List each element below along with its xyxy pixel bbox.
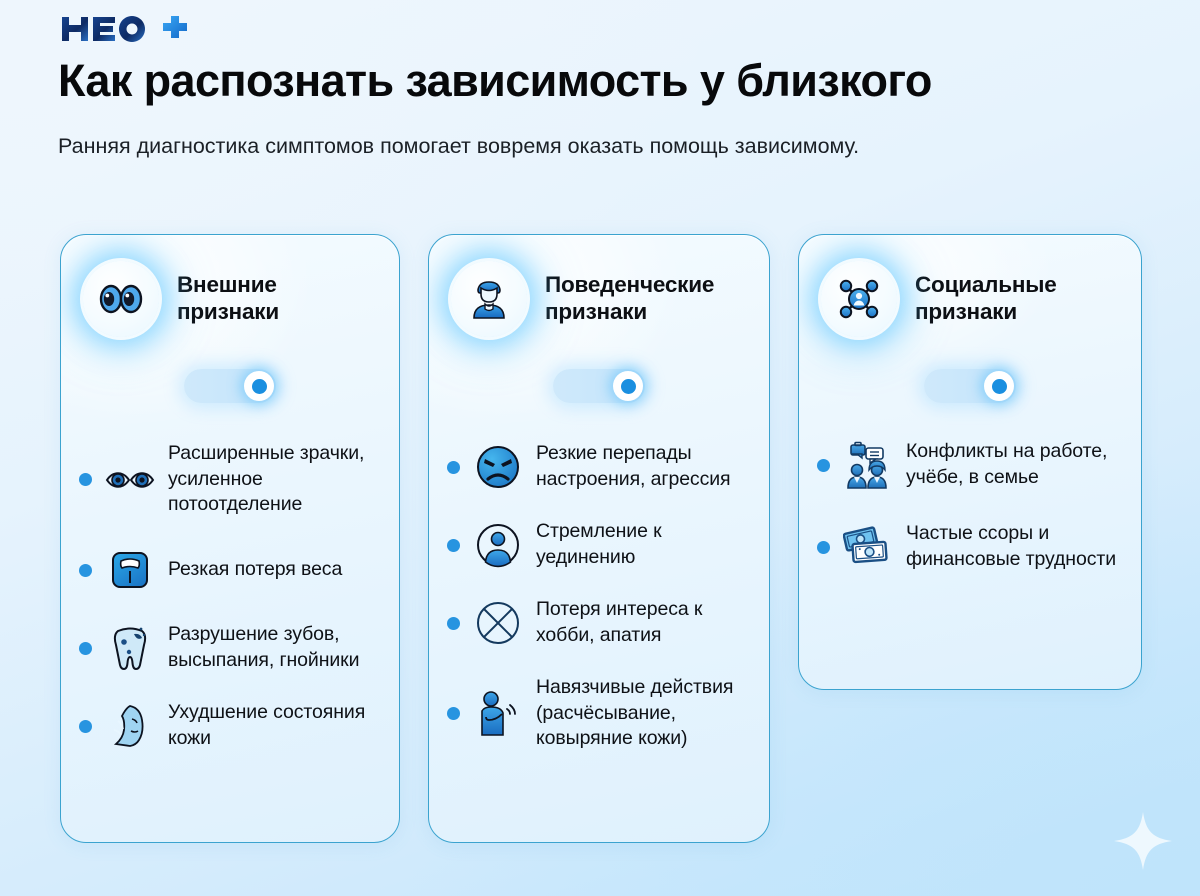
four-point-sparkle-icon	[1114, 812, 1172, 870]
neo-plus-logo-icon	[60, 13, 210, 45]
bullet-dot	[447, 539, 460, 552]
list-item-text: Стремление к уединению	[536, 519, 751, 570]
bullet-dot	[79, 473, 92, 486]
toggle-behavioral[interactable]	[553, 369, 645, 403]
card-external-signs: Внешние признаки	[60, 234, 400, 843]
brand-logo	[60, 14, 210, 44]
bullet-dot	[447, 707, 460, 720]
card-title: Внешние признаки	[177, 272, 379, 325]
people-conflict-icon	[842, 439, 894, 491]
badge-eyes	[83, 261, 159, 337]
tooth-decay-icon	[104, 622, 156, 674]
lone-person-icon	[472, 519, 524, 571]
bullet-dot	[447, 617, 460, 630]
cards-container: Внешние признаки	[60, 234, 1142, 843]
list-item: Резкие перепады настроения, агрессия	[447, 441, 751, 493]
toggle-wrap	[799, 337, 1141, 403]
bullet-dot	[79, 642, 92, 655]
list-item-text: Частые ссоры и финансовые трудности	[906, 521, 1123, 572]
toggle-social[interactable]	[924, 369, 1016, 403]
list-item-text: Конфликты на работе, учёбе, в семье	[906, 439, 1123, 490]
badge-person	[451, 261, 527, 337]
person-avatar-icon	[467, 277, 511, 321]
signs-list: Резкие перепады настроения, агрессия Стр…	[429, 403, 769, 752]
page-subtitle: Ранняя диагностика симптомов помогает во…	[58, 130, 958, 163]
list-item-text: Резкая потеря веса	[168, 557, 342, 583]
weight-scale-icon	[104, 544, 156, 596]
badge-social	[821, 261, 897, 337]
list-item: Ухудшение состояния кожи	[79, 700, 381, 752]
social-network-icon	[835, 275, 883, 323]
list-item-text: Ухудшение состояния кожи	[168, 700, 381, 751]
toggle-wrap	[61, 337, 399, 403]
list-item: Навязчивые действия (расчёсывание, ковыр…	[447, 675, 751, 752]
card-header: Поведенческие признаки	[429, 235, 769, 337]
bullet-dot	[817, 541, 830, 554]
dilated-pupils-icon	[104, 454, 156, 506]
list-item: Разрушение зубов, высыпания, гнойники	[79, 622, 381, 674]
toggle-external[interactable]	[184, 369, 276, 403]
bullet-dot	[447, 461, 460, 474]
toggle-knob	[984, 371, 1014, 401]
eyes-icon	[98, 282, 144, 316]
list-item-text: Потеря интереса к хобби, апатия	[536, 597, 751, 648]
toggle-knob	[244, 371, 274, 401]
card-title: Социальные признаки	[915, 272, 1121, 325]
list-item-text: Разрушение зубов, высыпания, гнойники	[168, 622, 381, 673]
list-item: Потеря интереса к хобби, апатия	[447, 597, 751, 649]
card-title: Поведенческие признаки	[545, 272, 749, 325]
list-item: Стремление к уединению	[447, 519, 751, 571]
card-social-signs: Социальные признаки	[798, 234, 1142, 690]
signs-list: Расширенные зрачки, усиленное потоотделе…	[61, 403, 399, 752]
crossed-circle-icon	[472, 597, 524, 649]
page-title: Как распознать зависимость у близкого	[58, 57, 1158, 105]
toggle-wrap	[429, 337, 769, 403]
face-skin-icon	[104, 700, 156, 752]
list-item-text: Резкие перепады настроения, агрессия	[536, 441, 751, 492]
card-behavioral-signs: Поведенческие признаки	[428, 234, 770, 843]
angry-face-icon	[472, 441, 524, 493]
bullet-dot	[79, 564, 92, 577]
card-header: Социальные признаки	[799, 235, 1141, 337]
signs-list: Конфликты на работе, учёбе, в семье	[799, 403, 1141, 573]
bullet-dot	[817, 459, 830, 472]
list-item: Частые ссоры и финансовые трудности	[817, 521, 1123, 573]
card-header: Внешние признаки	[61, 235, 399, 337]
list-item: Конфликты на работе, учёбе, в семье	[817, 439, 1123, 491]
toggle-knob	[613, 371, 643, 401]
list-item-text: Расширенные зрачки, усиленное потоотделе…	[168, 441, 381, 518]
scratching-person-icon	[472, 688, 524, 740]
bullet-dot	[79, 720, 92, 733]
list-item: Расширенные зрачки, усиленное потоотделе…	[79, 441, 381, 518]
list-item-text: Навязчивые действия (расчёсывание, ковыр…	[536, 675, 751, 752]
list-item: Резкая потеря веса	[79, 544, 381, 596]
banknotes-icon	[842, 521, 894, 573]
